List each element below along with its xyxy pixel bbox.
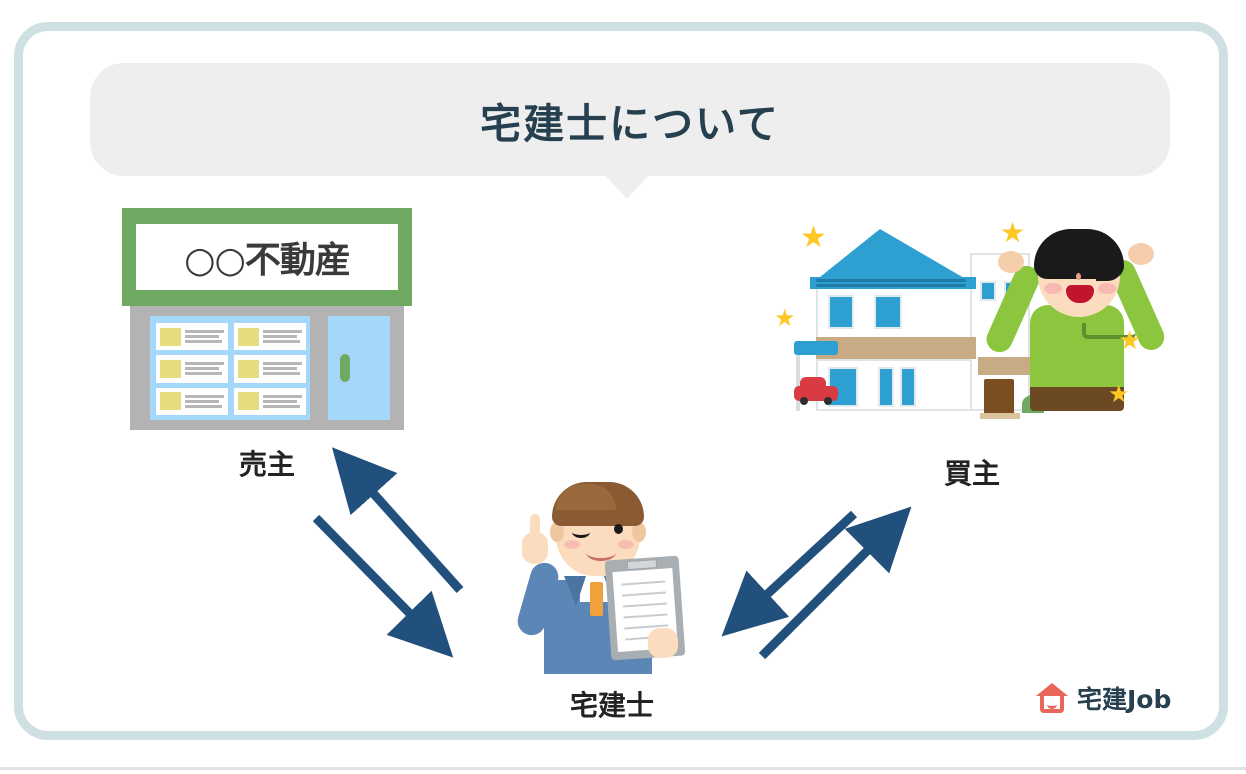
agent-winking-eye	[572, 526, 590, 538]
buyer-label: 買主	[782, 452, 1162, 492]
person-nose	[1076, 273, 1081, 280]
agent-cheek	[618, 540, 634, 549]
listing-card	[156, 355, 228, 382]
sparkle-star-icon: ★	[1118, 327, 1141, 353]
sparkle-star-icon: ★	[1108, 383, 1130, 407]
person-cheek	[1098, 283, 1116, 294]
smiling-house-logo-icon	[1036, 683, 1068, 713]
car-wheel	[800, 397, 808, 405]
agent-tie	[590, 582, 603, 616]
arrow-group-left	[280, 450, 480, 670]
agent-cheek	[564, 540, 580, 549]
house-window	[828, 295, 854, 329]
title-banner-tail-icon	[605, 175, 649, 199]
sparkle-star-icon: ★	[1000, 219, 1025, 247]
sparkle-star-icon: ★	[774, 307, 796, 331]
listing-thumb	[238, 328, 259, 346]
listing-lines	[185, 362, 224, 375]
roof-tile-line	[816, 284, 966, 287]
carport-roof	[794, 341, 838, 355]
listing-lines	[185, 330, 224, 343]
listing-card	[234, 323, 306, 350]
title-banner: 宅建士について	[90, 63, 1170, 176]
listing-card	[156, 388, 228, 415]
agent-eye	[614, 524, 623, 534]
house-small-window	[980, 281, 996, 301]
agent-holding-hand	[648, 628, 678, 658]
shop-window	[150, 316, 310, 420]
listing-card-grid	[156, 323, 306, 415]
arrow-buyer-to-agent	[748, 514, 854, 612]
brand-logo[interactable]: 宅建Job	[1036, 678, 1186, 718]
shop-door	[328, 316, 390, 420]
buyer-scene-icon: ★ ★ ★ ★ ★	[782, 215, 1162, 440]
sparkle-star-icon: ★	[800, 223, 827, 253]
shop-body	[130, 306, 404, 430]
listing-thumb	[160, 392, 181, 410]
shop-awning: ○○不動産	[122, 208, 412, 306]
paper-line	[622, 592, 666, 597]
house-window	[878, 367, 894, 407]
agent-pointing-finger	[530, 514, 540, 540]
listing-lines	[263, 395, 302, 408]
arrow-group-right	[730, 490, 930, 680]
logo-smile	[1047, 700, 1057, 709]
listing-lines	[185, 395, 224, 408]
listing-card	[156, 323, 228, 350]
roof-tile-line	[816, 279, 966, 282]
agent-smile	[586, 544, 616, 561]
infographic-canvas: 宅建士について ○○不動産 売主	[0, 0, 1246, 774]
person-left-hand	[998, 251, 1024, 273]
listing-thumb	[238, 392, 259, 410]
page-title: 宅建士について	[480, 90, 780, 150]
house-window	[900, 367, 916, 407]
house-beam	[816, 337, 976, 359]
agent-label: 宅建士	[512, 684, 712, 724]
car-wheel	[824, 397, 832, 405]
listing-thumb	[160, 360, 181, 378]
shop-sign: ○○不動産	[136, 224, 398, 290]
seller-shop-icon: ○○不動産	[122, 208, 412, 430]
listing-thumb	[238, 360, 259, 378]
brand-logo-text: 宅建Job	[1077, 680, 1171, 716]
paper-line	[623, 602, 667, 607]
shop-sign-text: ○○不動産	[184, 231, 350, 283]
arrow-agent-to-buyer	[762, 532, 886, 656]
door-handle-icon	[340, 354, 350, 382]
house-window	[874, 295, 902, 329]
agent-person-icon	[512, 470, 712, 670]
bottom-divider	[0, 767, 1246, 770]
paper-line	[621, 581, 665, 586]
listing-card	[234, 355, 306, 382]
paper-line	[624, 613, 668, 618]
person-right-hand	[1128, 243, 1154, 265]
person-cheek	[1044, 283, 1062, 294]
listing-card	[234, 388, 306, 415]
car-icon	[794, 377, 838, 403]
listing-lines	[263, 330, 302, 343]
house-roof-eave	[810, 277, 976, 289]
listing-lines	[263, 362, 302, 375]
listing-thumb	[160, 328, 181, 346]
